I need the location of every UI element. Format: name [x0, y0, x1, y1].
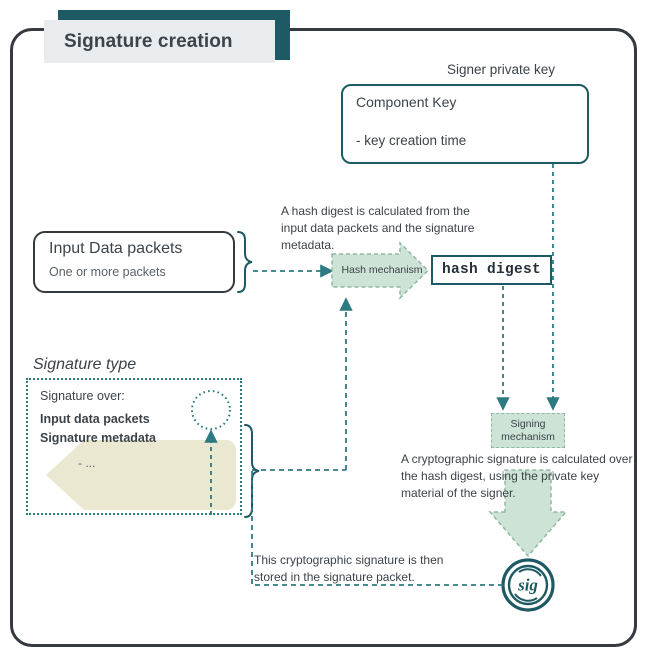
diagram-canvas: Signature creation	[0, 0, 649, 661]
signature-over-label: Signature over:	[40, 389, 125, 403]
signature-metadata-ellipsis: - ...	[78, 456, 95, 470]
hash-digest-box: hash digest	[431, 255, 552, 285]
signing-mechanism-box: Signing mechanism	[491, 413, 565, 448]
input-data-packets-subtitle: One or more packets	[49, 265, 166, 279]
signature-over-item-0: Input data packets	[40, 412, 150, 426]
signature-over-item-1: Signature metadata	[40, 431, 156, 445]
signing-mechanism-label-line1: Signing	[510, 418, 545, 431]
component-key-detail: - key creation time	[356, 133, 466, 148]
hash-digest-label: hash digest	[442, 262, 541, 278]
stored-signature-description: This cryptographic signature is then sto…	[254, 552, 469, 586]
component-key-title: Component Key	[356, 94, 456, 110]
signature-type-title: Signature type	[33, 356, 136, 374]
input-data-packets-title: Input Data packets	[49, 240, 182, 258]
page-title-text: Signature creation	[64, 31, 233, 53]
signing-mechanism-label-line2: mechanism	[501, 431, 555, 444]
page-title: Signature creation	[44, 20, 275, 63]
hash-mechanism-label: Hash mechanism	[339, 264, 425, 276]
signer-key-caption: Signer private key	[447, 62, 555, 77]
hash-description: A hash digest is calculated from the inp…	[281, 203, 496, 254]
signing-description: A cryptographic signature is calculated …	[401, 451, 633, 502]
